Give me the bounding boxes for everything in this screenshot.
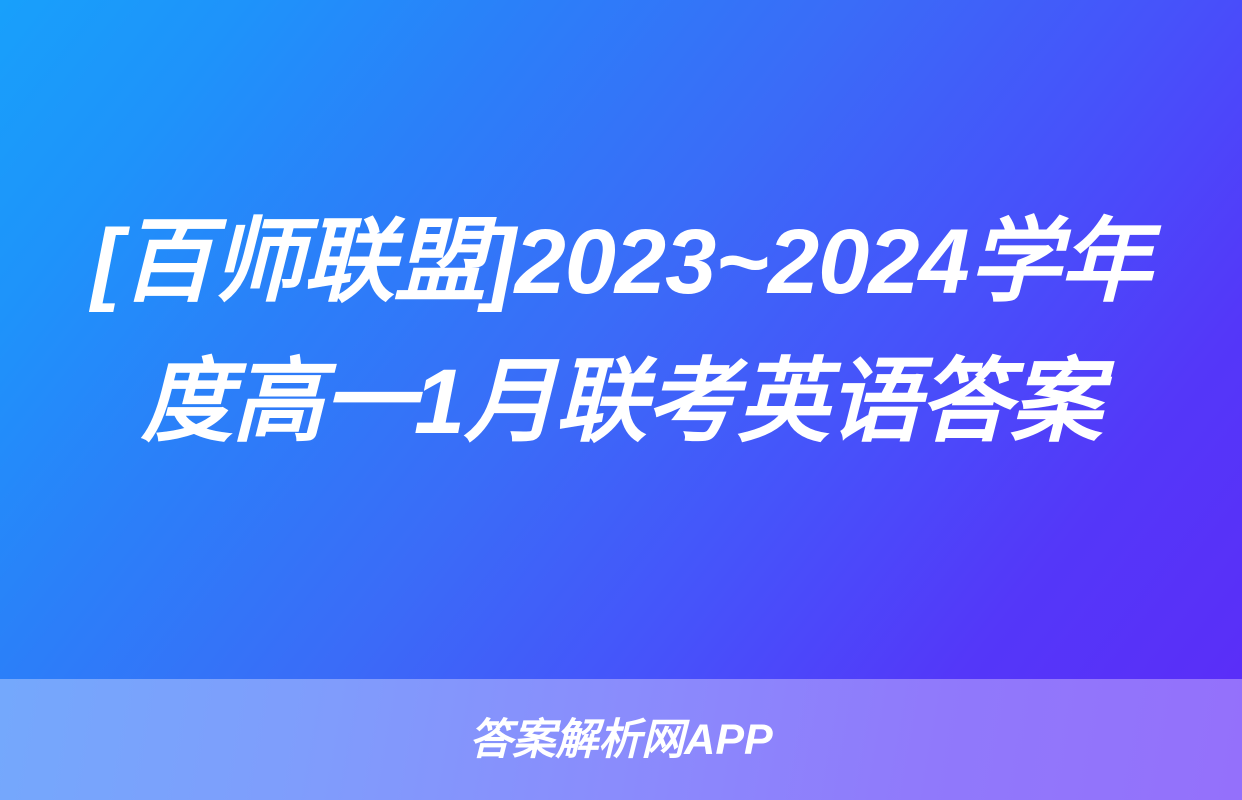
page-title: [百师联盟]2023~2024学年度高一1月联考英语答案 — [84, 192, 1158, 472]
footer-brand-band: 答案解析网APP — [0, 679, 1242, 800]
promo-card: [百师联盟]2023~2024学年度高一1月联考英语答案 答案解析网APP — [0, 0, 1242, 800]
app-brand-label: 答案解析网APP — [469, 719, 772, 762]
hero-banner: [百师联盟]2023~2024学年度高一1月联考英语答案 — [0, 0, 1242, 679]
